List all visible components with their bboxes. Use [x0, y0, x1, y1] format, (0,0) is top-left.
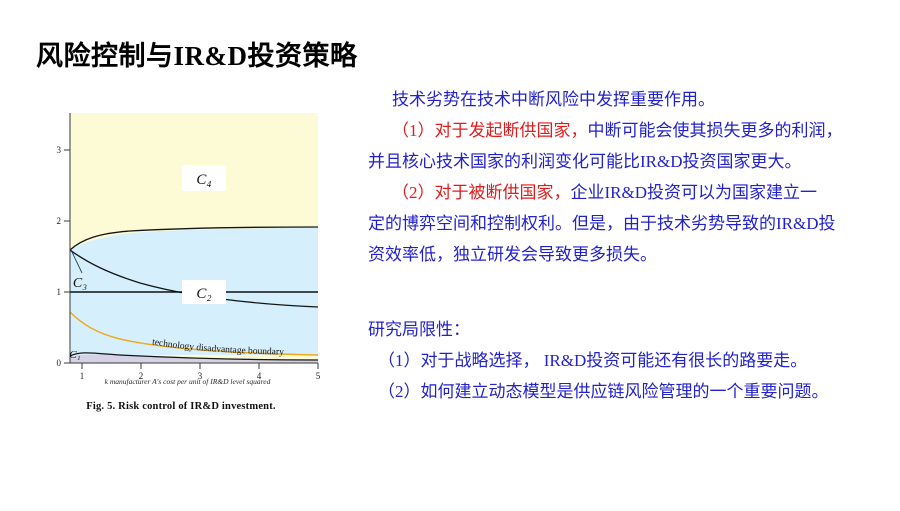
paragraph-1-red-prefix: （1）对于发起断供国家， [392, 121, 588, 140]
paragraph-2-line1: （2）对于被断供国家，企业IR&D投资可以为国家建立一 [368, 177, 888, 208]
limitations-heading: 研究局限性： [368, 314, 888, 345]
risk-control-chart: 0 1 2 3 1 2 3 4 5 C₄ [30, 105, 325, 390]
paragraph-spacer [368, 270, 888, 314]
page-title: 风险控制与IR&D投资策略 [36, 34, 358, 73]
svg-text:5: 5 [316, 371, 321, 381]
paragraph-1-line1: （1）对于发起断供国家，中断可能会使其损失更多的利润， [368, 115, 888, 146]
paragraph-1-line2: 并且核心技术国家的利润变化可能比IR&D投资国家更大。 [368, 146, 888, 177]
paragraph-intro: 技术劣势在技术中断风险中发挥重要作用。 [368, 84, 888, 115]
svg-text:1: 1 [57, 287, 62, 297]
region-label-c1: C₁ [69, 349, 80, 361]
limitation-item-1: （1）对于战略选择， IR&D投资可能还有很长的路要走。 [368, 345, 888, 376]
svg-text:2: 2 [57, 216, 62, 226]
figure-block: a technology disadvantage of other techn… [30, 105, 330, 435]
svg-text:3: 3 [57, 145, 62, 155]
paragraph-2-line2-text: 定的博弈空间和控制权利。但是，由于技术劣势导致的IR&D投 [368, 214, 836, 233]
limitation-item-2: （2）如何建立动态模型是供应链风险管理的一个重要问题。 [368, 376, 888, 407]
paragraph-2-line3-text: 资效率低，独立研发会导致更多损失。 [368, 245, 657, 264]
paragraph-1-line2-text: 并且核心技术国家的利润变化可能比IR&D投资国家更大。 [368, 152, 802, 171]
paragraph-2-line3: 资效率低，独立研发会导致更多损失。 [368, 239, 888, 270]
x-axis-tick-labels: 1 2 3 4 5 [80, 371, 321, 381]
paragraph-2-line2: 定的博弈空间和控制权利。但是，由于技术劣势导致的IR&D投 [368, 208, 888, 239]
svg-text:0: 0 [57, 358, 62, 368]
region-label-c2: C₂ [196, 286, 211, 302]
paragraph-1-rest: 中断可能会使其损失更多的利润， [588, 121, 843, 140]
paragraph-2-rest: 企业IR&D投资可以为国家建立一 [571, 183, 818, 202]
chart-plot-area: a technology disadvantage of other techn… [30, 105, 325, 390]
x-axis-ticks [82, 363, 318, 369]
y-axis-ticks [64, 150, 70, 363]
figure-caption: Fig. 5. Risk control of IR&D investment. [36, 401, 326, 412]
body-text-panel: 技术劣势在技术中断风险中发挥重要作用。 （1）对于发起断供国家，中断可能会使其损… [368, 84, 888, 407]
svg-text:3: 3 [198, 371, 203, 381]
region-label-c3: C₃ [73, 276, 87, 291]
y-axis-tick-labels: 0 1 2 3 [57, 145, 62, 368]
svg-text:2: 2 [139, 371, 144, 381]
svg-text:1: 1 [80, 371, 85, 381]
paragraph-2-red-prefix: （2）对于被断供国家， [392, 183, 571, 202]
svg-text:4: 4 [257, 371, 262, 381]
paragraph-intro-text: 技术劣势在技术中断风险中发挥重要作用。 [392, 90, 715, 109]
region-label-c4: C₄ [196, 172, 211, 188]
